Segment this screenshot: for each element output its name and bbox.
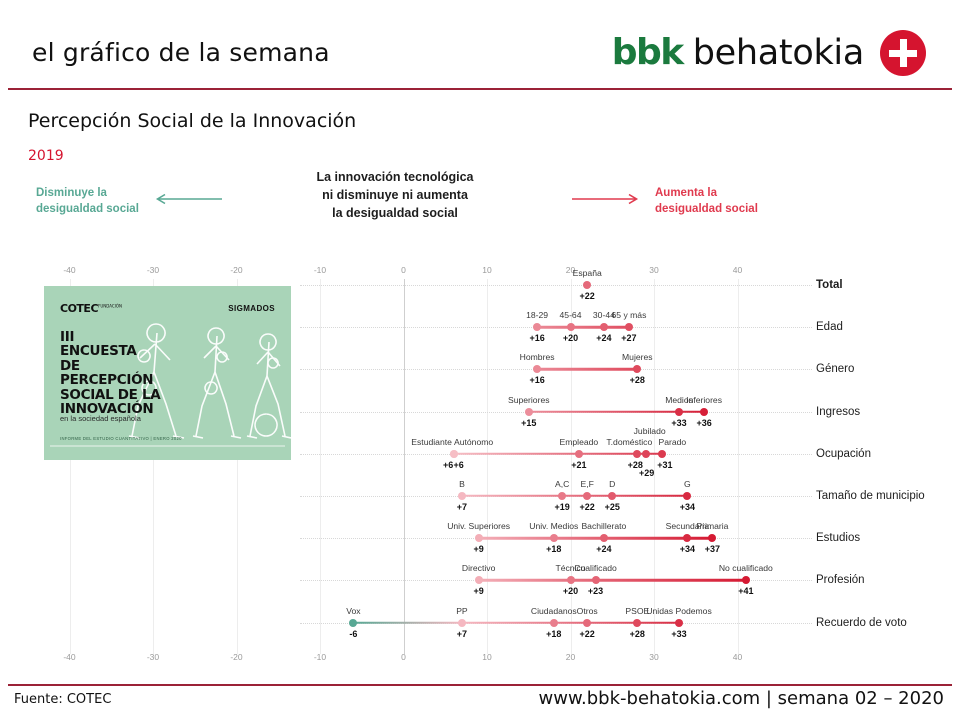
data-point-primaria [708, 534, 716, 542]
data-point-a-c [558, 492, 566, 500]
point-value-vox: -6 [349, 629, 357, 639]
point-value-bachillerato: +24 [596, 544, 611, 554]
point-label-secundaria: Secundaria [666, 521, 709, 531]
data-point-vox [349, 619, 357, 627]
point-value-jubilado: +29 [639, 468, 654, 478]
point-value-estudiante: +6 [443, 460, 453, 470]
row-label-tama-o-de-municipio: Tamaño de municipio [816, 490, 925, 502]
point-label-superiores: Superiores [508, 395, 550, 405]
point-label-parado: Parado [658, 437, 686, 447]
data-point-parado [658, 450, 666, 458]
point-label-primaria: Primaria [696, 521, 728, 531]
connector-segment [679, 410, 704, 412]
row-gridline [300, 285, 812, 286]
connector-segment [571, 326, 604, 328]
point-label-pp: PP [456, 606, 467, 616]
point-label-estudiante: Estudiante [411, 437, 452, 447]
data-point-univ-medios [550, 534, 558, 542]
cover-headline-line: ENCUESTA [60, 344, 160, 358]
connector-segment [646, 453, 663, 455]
axis-tick-top--40: -40 [63, 265, 75, 275]
connector-segment [537, 326, 570, 328]
axis-tick-bottom-30: 30 [649, 652, 658, 662]
vertical-gridline [571, 279, 572, 654]
axis-tick-bottom-0: 0 [401, 652, 406, 662]
arrow-right-icon [572, 193, 642, 205]
row-label-recuerdo-de-voto: Recuerdo de voto [816, 617, 907, 629]
connector-segment [587, 495, 612, 497]
point-value-g: +34 [680, 502, 695, 512]
connector-segment [554, 621, 587, 623]
row-label-g-nero: Género [816, 363, 854, 375]
point-label-d: D [609, 479, 615, 489]
page-title: el gráfico de la semana [32, 38, 330, 67]
data-point-estudiante [450, 450, 458, 458]
row-label-estudios: Estudios [816, 532, 860, 544]
connector-segment [687, 537, 712, 539]
row-gridline [300, 369, 812, 370]
point-value-e-f: +22 [580, 502, 595, 512]
axis-tick-top-10: 10 [482, 265, 491, 275]
vertical-gridline [654, 279, 655, 654]
axis-tick-top-40: 40 [733, 265, 742, 275]
row-gridline [300, 538, 812, 539]
data-point-otros [583, 619, 591, 627]
point-value-45-64: +20 [563, 333, 578, 343]
bbk-behatokia-logo: bbk behatokia [612, 30, 926, 76]
point-label-ciudadanos: Ciudadanos [531, 606, 577, 616]
vertical-gridline [320, 279, 321, 654]
data-point-t-cnico [567, 576, 575, 584]
cover-headline: IIIENCUESTADEPERCEPCIÓNSOCIAL DE LAINNOV… [60, 330, 160, 417]
connector-segment [462, 495, 562, 497]
point-label-bachillerato: Bachillerato [581, 521, 626, 531]
point-label-65-y-m-s: 65 y más [612, 310, 647, 320]
vertical-gridline [487, 279, 488, 654]
legend-neutral-line2: ni disminuye ni aumenta [270, 186, 520, 204]
data-point-mujeres [633, 365, 641, 373]
report-cover-image: COTECFUNDACIÓN SIGMADOS IIIENCUESTADEPER… [44, 286, 291, 460]
row-gridline [300, 327, 812, 328]
connector-segment [571, 579, 596, 581]
logo-behatokia-text: behatokia [693, 36, 864, 71]
row-gridline [300, 454, 812, 455]
point-value-univ-superiores: +9 [474, 544, 484, 554]
point-label-e-f: E,F [581, 479, 594, 489]
data-point-empleado [575, 450, 583, 458]
axis-tick-top--20: -20 [230, 265, 242, 275]
point-value-parado: +31 [657, 460, 672, 470]
data-point-jubilado [642, 450, 650, 458]
point-value-directivo: +9 [474, 586, 484, 596]
point-value-b: +7 [457, 502, 467, 512]
legend-increase: Aumenta la desigualdad social [655, 186, 758, 217]
point-label-b: B [459, 479, 465, 489]
data-point-espa-a [583, 281, 591, 289]
point-label-45-64: 45-64 [560, 310, 582, 320]
point-label-cualificado: Cualificado [574, 563, 617, 573]
connector-segment [353, 621, 462, 623]
connector-segment [562, 495, 587, 497]
logo-bbk-text: bbk [612, 35, 683, 71]
point-value-ciudadanos: +18 [546, 629, 561, 639]
point-label-univ-medios: Univ. Medios [529, 521, 578, 531]
point-value-d: +25 [605, 502, 620, 512]
axis-tick-top--30: -30 [147, 265, 159, 275]
legend-increase-line2: desigualdad social [655, 202, 758, 218]
axis-tick-bottom-10: 10 [482, 652, 491, 662]
row-gridline [300, 623, 812, 624]
data-point-pp [458, 619, 466, 627]
vertical-gridline [404, 279, 405, 654]
footer-website: www.bbk-behatokia.com | semana 02 – 2020 [539, 688, 944, 709]
point-value-30-44: +24 [596, 333, 611, 343]
data-point-aut-nomo [450, 450, 458, 458]
connector-segment [579, 453, 637, 455]
point-label-no-cualificado: No cualificado [719, 563, 773, 573]
cross-vertical-bar [900, 39, 907, 67]
cover-headline-line: III [60, 330, 160, 344]
data-point-18-29 [533, 323, 541, 331]
data-point-cualificado [592, 576, 600, 584]
connector-segment [637, 453, 645, 455]
data-point-secundaria [683, 534, 691, 542]
axis-tick-top-30: 30 [649, 265, 658, 275]
point-value-primaria: +37 [705, 544, 720, 554]
point-value-hombres: +16 [529, 375, 544, 385]
point-label-univ-superiores: Univ. Superiores [447, 521, 510, 531]
data-point-superiores [525, 408, 533, 416]
data-point-45-64 [567, 323, 575, 331]
point-value-no-cualificado: +41 [738, 586, 753, 596]
data-point-directivo [475, 576, 483, 584]
row-gridline [300, 496, 812, 497]
axis-tick-bottom--30: -30 [147, 652, 159, 662]
connector-segment [587, 621, 637, 623]
row-label-ingresos: Ingresos [816, 406, 860, 418]
point-value-espa-a: +22 [580, 291, 595, 301]
point-label-mujeres: Mujeres [622, 352, 653, 362]
data-point-b [458, 492, 466, 500]
axis-tick-top--10: -10 [314, 265, 326, 275]
connector-segment [554, 537, 604, 539]
row-gridline [300, 580, 812, 581]
cross-badge-icon [880, 30, 926, 76]
legend-neutral-line3: la desigualdad social [270, 204, 520, 222]
point-label-empleado: Empleado [559, 437, 598, 447]
connector-segment [454, 453, 579, 455]
point-value-t-cnico: +20 [563, 586, 578, 596]
axis-tick-top-0: 0 [401, 265, 406, 275]
axis-tick-bottom--40: -40 [63, 652, 75, 662]
legend-decrease-line2: desigualdad social [36, 202, 139, 218]
point-value-psoe: +28 [630, 629, 645, 639]
data-point-ciudadanos [550, 619, 558, 627]
cover-footnote: INFORME DEL ESTUDIO CUANTITATIVO | ENERO… [60, 436, 182, 441]
data-point-inferiores [700, 408, 708, 416]
arrow-left-icon [152, 193, 222, 205]
connector-segment [637, 621, 679, 623]
connector-segment [462, 621, 554, 623]
point-value-a-c: +19 [555, 502, 570, 512]
point-value-65-y-m-s: +27 [621, 333, 636, 343]
data-point-g [683, 492, 691, 500]
page-header: el gráfico de la semana bbk behatokia [0, 0, 960, 88]
legend-neutral-line1: La innovación tecnológica [270, 168, 520, 186]
data-point-unidas-podemos [675, 619, 683, 627]
cover-headline-line: PERCEPCIÓN [60, 373, 160, 387]
connector-segment [537, 368, 637, 370]
legend-neutral: La innovación tecnológica ni disminuye n… [270, 168, 520, 222]
point-label-espa-a: España [573, 268, 602, 278]
point-label-medios: Medios [665, 395, 693, 405]
chart-title: Percepción Social de la Innovación [28, 110, 356, 132]
point-value-aut-nomo: +6 [453, 460, 463, 470]
cover-subtitle: en la sociedad española [60, 414, 141, 423]
connector-segment [612, 495, 687, 497]
vertical-gridline [738, 279, 739, 654]
axis-tick-bottom-40: 40 [733, 652, 742, 662]
connector-segment [479, 579, 571, 581]
data-point-hombres [533, 365, 541, 373]
data-point-medios [675, 408, 683, 416]
connector-segment [529, 410, 679, 412]
axis-tick-bottom--10: -10 [314, 652, 326, 662]
data-point-t-dom-stico [633, 450, 641, 458]
connector-segment [479, 537, 554, 539]
row-label-profesi-n: Profesión [816, 574, 865, 586]
connector-segment [604, 537, 688, 539]
row-label-edad: Edad [816, 321, 843, 333]
point-label-hombres: Hombres [520, 352, 555, 362]
data-point-bachillerato [600, 534, 608, 542]
legend-increase-line1: Aumenta la [655, 186, 758, 202]
point-label-t-dom-stico: T.doméstico [606, 437, 652, 447]
point-value-mujeres: +28 [630, 375, 645, 385]
connector-segment [596, 579, 746, 581]
point-value-cualificado: +23 [588, 586, 603, 596]
point-label-18-29: 18-29 [526, 310, 548, 320]
data-point-d [608, 492, 616, 500]
point-value-superiores: +15 [521, 418, 536, 428]
data-point-psoe [633, 619, 641, 627]
point-label-vox: Vox [346, 606, 360, 616]
header-divider [8, 88, 952, 90]
point-label-t-cnico: Técnico [555, 563, 585, 573]
point-value-medios: +33 [671, 418, 686, 428]
row-label-ocupaci-n: Ocupación [816, 448, 871, 460]
point-value-pp: +7 [457, 629, 467, 639]
data-point-univ-superiores [475, 534, 483, 542]
data-point-65-y-m-s [625, 323, 633, 331]
point-label-g: G [684, 479, 691, 489]
point-label-otros: Otros [577, 606, 598, 616]
point-label-unidas-podemos: Unidas Podemos [646, 606, 711, 616]
point-value-18-29: +16 [529, 333, 544, 343]
data-point-no-cualificado [742, 576, 750, 584]
footer-divider [8, 684, 952, 686]
footer-source: Fuente: COTEC [14, 692, 111, 707]
point-value-unidas-podemos: +33 [671, 629, 686, 639]
axis-tick-top-20: 20 [566, 265, 575, 275]
point-label-inferiores: Inferiores [686, 395, 722, 405]
point-label-30-44: 30-44 [593, 310, 615, 320]
point-label-a-c: A,C [555, 479, 569, 489]
point-value-secundaria: +34 [680, 544, 695, 554]
connector-segment [604, 326, 629, 328]
point-label-aut-nomo: Autónomo [454, 437, 493, 447]
point-label-directivo: Directivo [462, 563, 495, 573]
axis-tick-bottom-20: 20 [566, 652, 575, 662]
legend-decrease: Disminuye la desigualdad social [36, 186, 139, 217]
point-value-univ-medios: +18 [546, 544, 561, 554]
row-label-total: Total [816, 279, 843, 291]
chart-year: 2019 [28, 148, 64, 164]
point-value-inferiores: +36 [696, 418, 711, 428]
data-point-30-44 [600, 323, 608, 331]
point-value-t-dom-stico: +28 [628, 460, 643, 470]
legend-decrease-line1: Disminuye la [36, 186, 139, 202]
point-label-psoe: PSOE [625, 606, 649, 616]
row-gridline [300, 412, 812, 413]
point-value-empleado: +21 [571, 460, 586, 470]
axis-tick-bottom--20: -20 [230, 652, 242, 662]
point-value-otros: +22 [580, 629, 595, 639]
data-point-e-f [583, 492, 591, 500]
point-label-jubilado: Jubilado [634, 426, 666, 436]
